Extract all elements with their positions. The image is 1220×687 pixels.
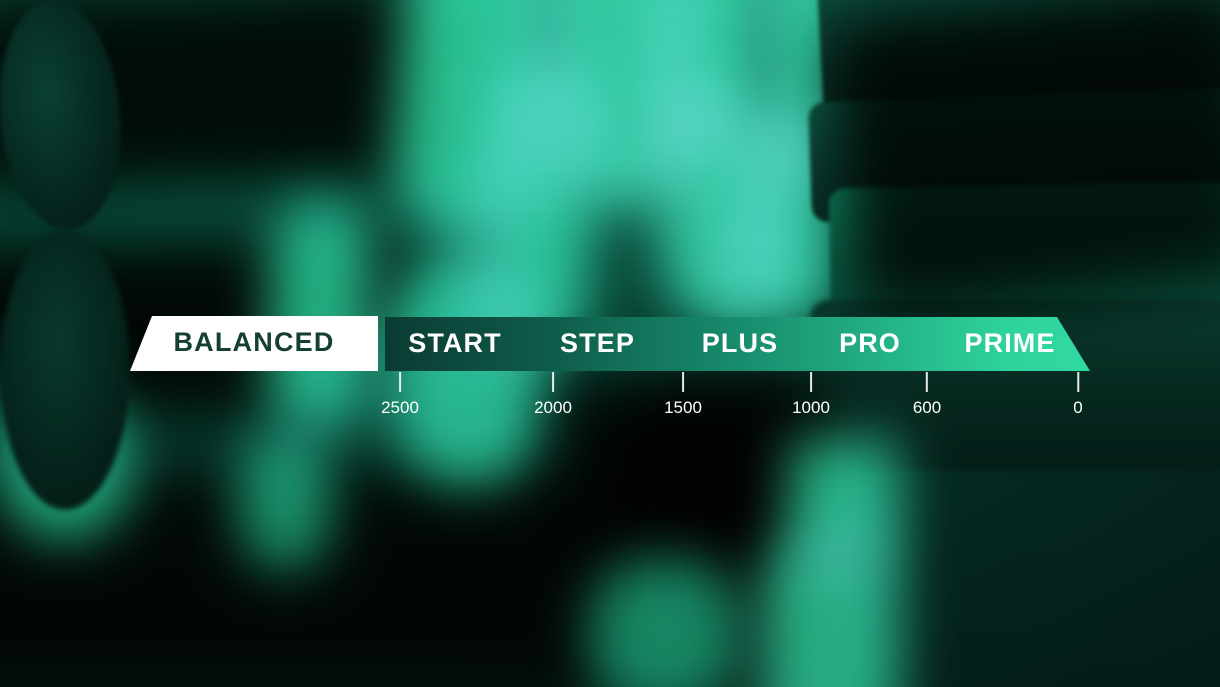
scale-tick-label: 600 [913, 399, 941, 416]
tick-mark-icon [926, 372, 928, 392]
tick-mark-icon [682, 372, 684, 392]
slide-canvas: BALANCED START STEP PLUS PRO PRIME 25002… [0, 0, 1220, 687]
scale-tick-label: 1500 [664, 399, 702, 416]
tier-label-pro: PRO [839, 328, 901, 358]
tab-balanced[interactable]: BALANCED [130, 316, 378, 371]
value-scale: 25002000150010006000 [0, 372, 1220, 432]
scale-tick-label: 0 [1073, 399, 1082, 416]
tick-mark-icon [1077, 372, 1079, 392]
tier-label-step: STEP [560, 328, 635, 358]
tier-item-plus[interactable]: PLUS [670, 330, 810, 357]
scale-tick-2000: 2000 [534, 372, 572, 416]
tab-balanced-label: BALANCED [173, 329, 334, 356]
tier-item-pro[interactable]: PRO [810, 330, 930, 357]
tier-bar: START STEP PLUS PRO PRIME [385, 317, 1090, 371]
scale-tick-label: 1000 [792, 399, 830, 416]
scale-tick-600: 600 [913, 372, 941, 416]
tick-mark-icon [552, 372, 554, 392]
tier-label-plus: PLUS [702, 328, 778, 358]
tier-item-prime[interactable]: PRIME [930, 330, 1090, 357]
tick-mark-icon [810, 372, 812, 392]
scale-tick-label: 2500 [381, 399, 419, 416]
scale-tick-label: 2000 [534, 399, 572, 416]
scale-tick-1000: 1000 [792, 372, 830, 416]
tier-banner: BALANCED START STEP PLUS PRO PRIME [0, 316, 1220, 372]
scale-tick-2500: 2500 [381, 372, 419, 416]
scale-tick-0: 0 [1073, 372, 1082, 416]
tick-mark-icon [399, 372, 401, 392]
tier-item-step[interactable]: STEP [525, 330, 670, 357]
scale-tick-1500: 1500 [664, 372, 702, 416]
tier-label-start: START [408, 328, 502, 358]
tier-item-start[interactable]: START [385, 330, 525, 357]
tier-label-prime: PRIME [964, 328, 1055, 358]
